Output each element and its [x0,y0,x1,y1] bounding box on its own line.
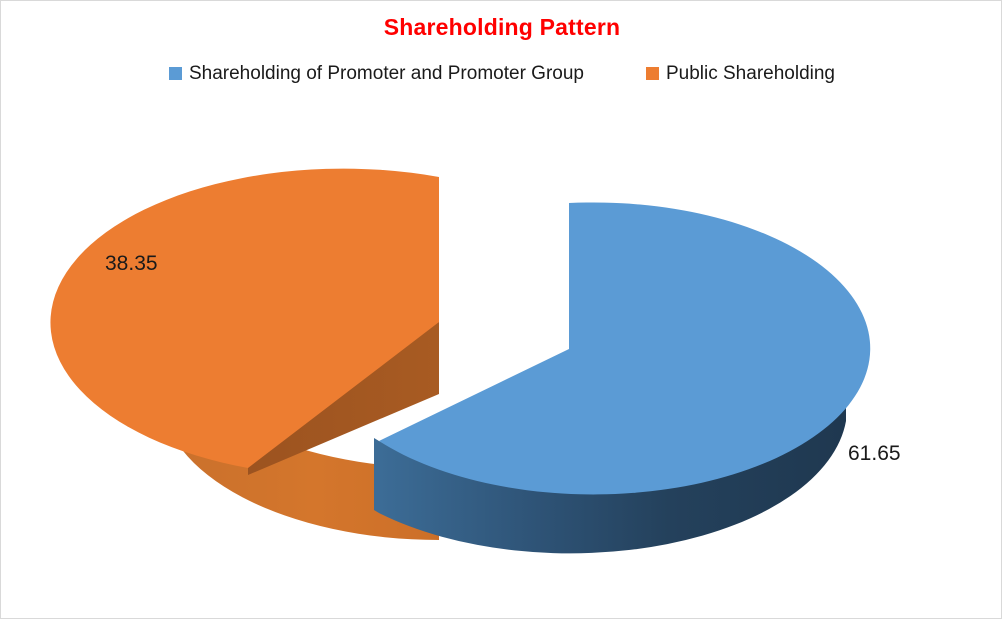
chart-container: Shareholding Pattern Shareholding of Pro… [0,0,1002,619]
pie-slice-public-top-face [50,169,439,468]
pie-slice-promoter[interactable] [374,202,870,553]
pie-chart-graphic [1,1,1002,619]
pie-slice-promoter-radial-wall [374,438,379,513]
data-label-public: 38.35 [105,253,158,274]
data-label-promoter: 61.65 [848,443,901,464]
